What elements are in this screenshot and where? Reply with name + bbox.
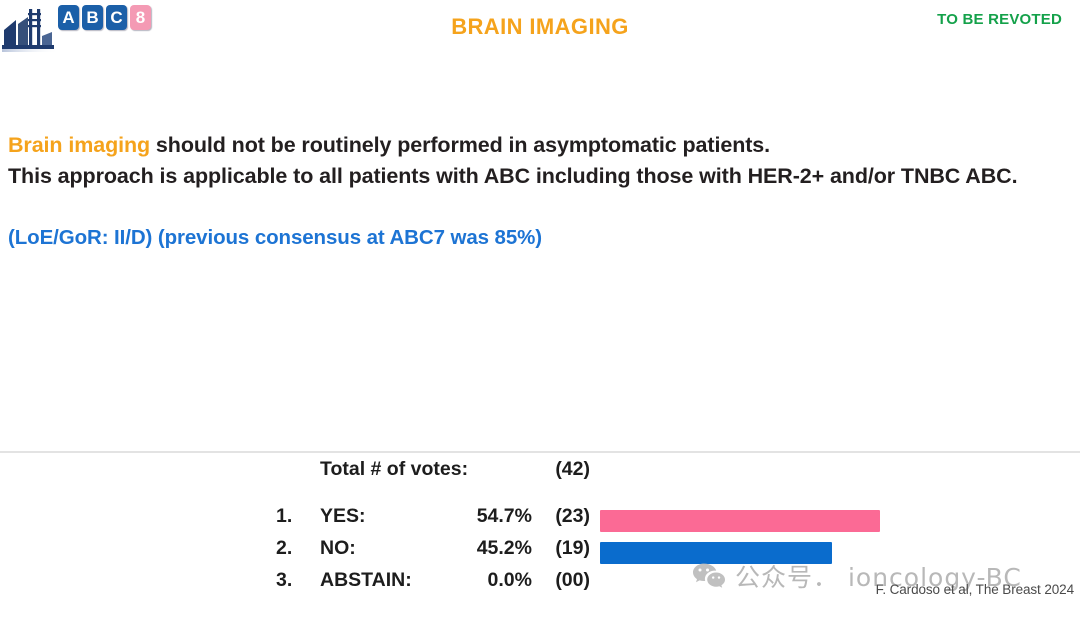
- total-votes-value: (42): [526, 458, 590, 481]
- wechat-icon: [692, 562, 726, 590]
- row-label: NO:: [320, 537, 356, 560]
- row-count: (00): [540, 569, 590, 592]
- section-divider: [0, 451, 1080, 453]
- row-count: (23): [540, 505, 590, 528]
- row-bar-cell: [600, 510, 960, 532]
- loe-gor-line: (LoE/GoR: II/D) (previous consensus at A…: [8, 226, 542, 250]
- statement-line1-rest: should not be routinely performed in asy…: [150, 133, 770, 157]
- row-percent: 45.2%: [446, 537, 532, 560]
- recommendation-statement: Brain imaging should not be routinely pe…: [8, 130, 1076, 192]
- row-label: ABSTAIN:: [320, 569, 412, 592]
- row-percent: 0.0%: [446, 569, 532, 592]
- statement-highlight: Brain imaging: [8, 133, 150, 157]
- total-votes-row: Total # of votes: (42): [276, 458, 976, 505]
- citation-credit: F. Cardoso et al, The Breast 2024: [876, 582, 1074, 597]
- statement-line2: This approach is applicable to all patie…: [8, 164, 1017, 188]
- table-row: 1. YES: 54.7% (23): [276, 505, 976, 537]
- row-index: 3.: [276, 569, 304, 592]
- row-label: YES:: [320, 505, 366, 528]
- row-index: 2.: [276, 537, 304, 560]
- vote-bar-yes: [600, 510, 880, 532]
- row-index: 1.: [276, 505, 304, 528]
- slide-title: BRAIN IMAGING: [0, 14, 1080, 40]
- slide: A B C 8 BRAIN IMAGING TO BE REVOTED Brai…: [0, 0, 1080, 620]
- row-count: (19): [540, 537, 590, 560]
- revote-status-badge: TO BE REVOTED: [937, 11, 1062, 28]
- row-percent: 54.7%: [446, 505, 532, 528]
- total-votes-label: Total # of votes:: [320, 458, 468, 481]
